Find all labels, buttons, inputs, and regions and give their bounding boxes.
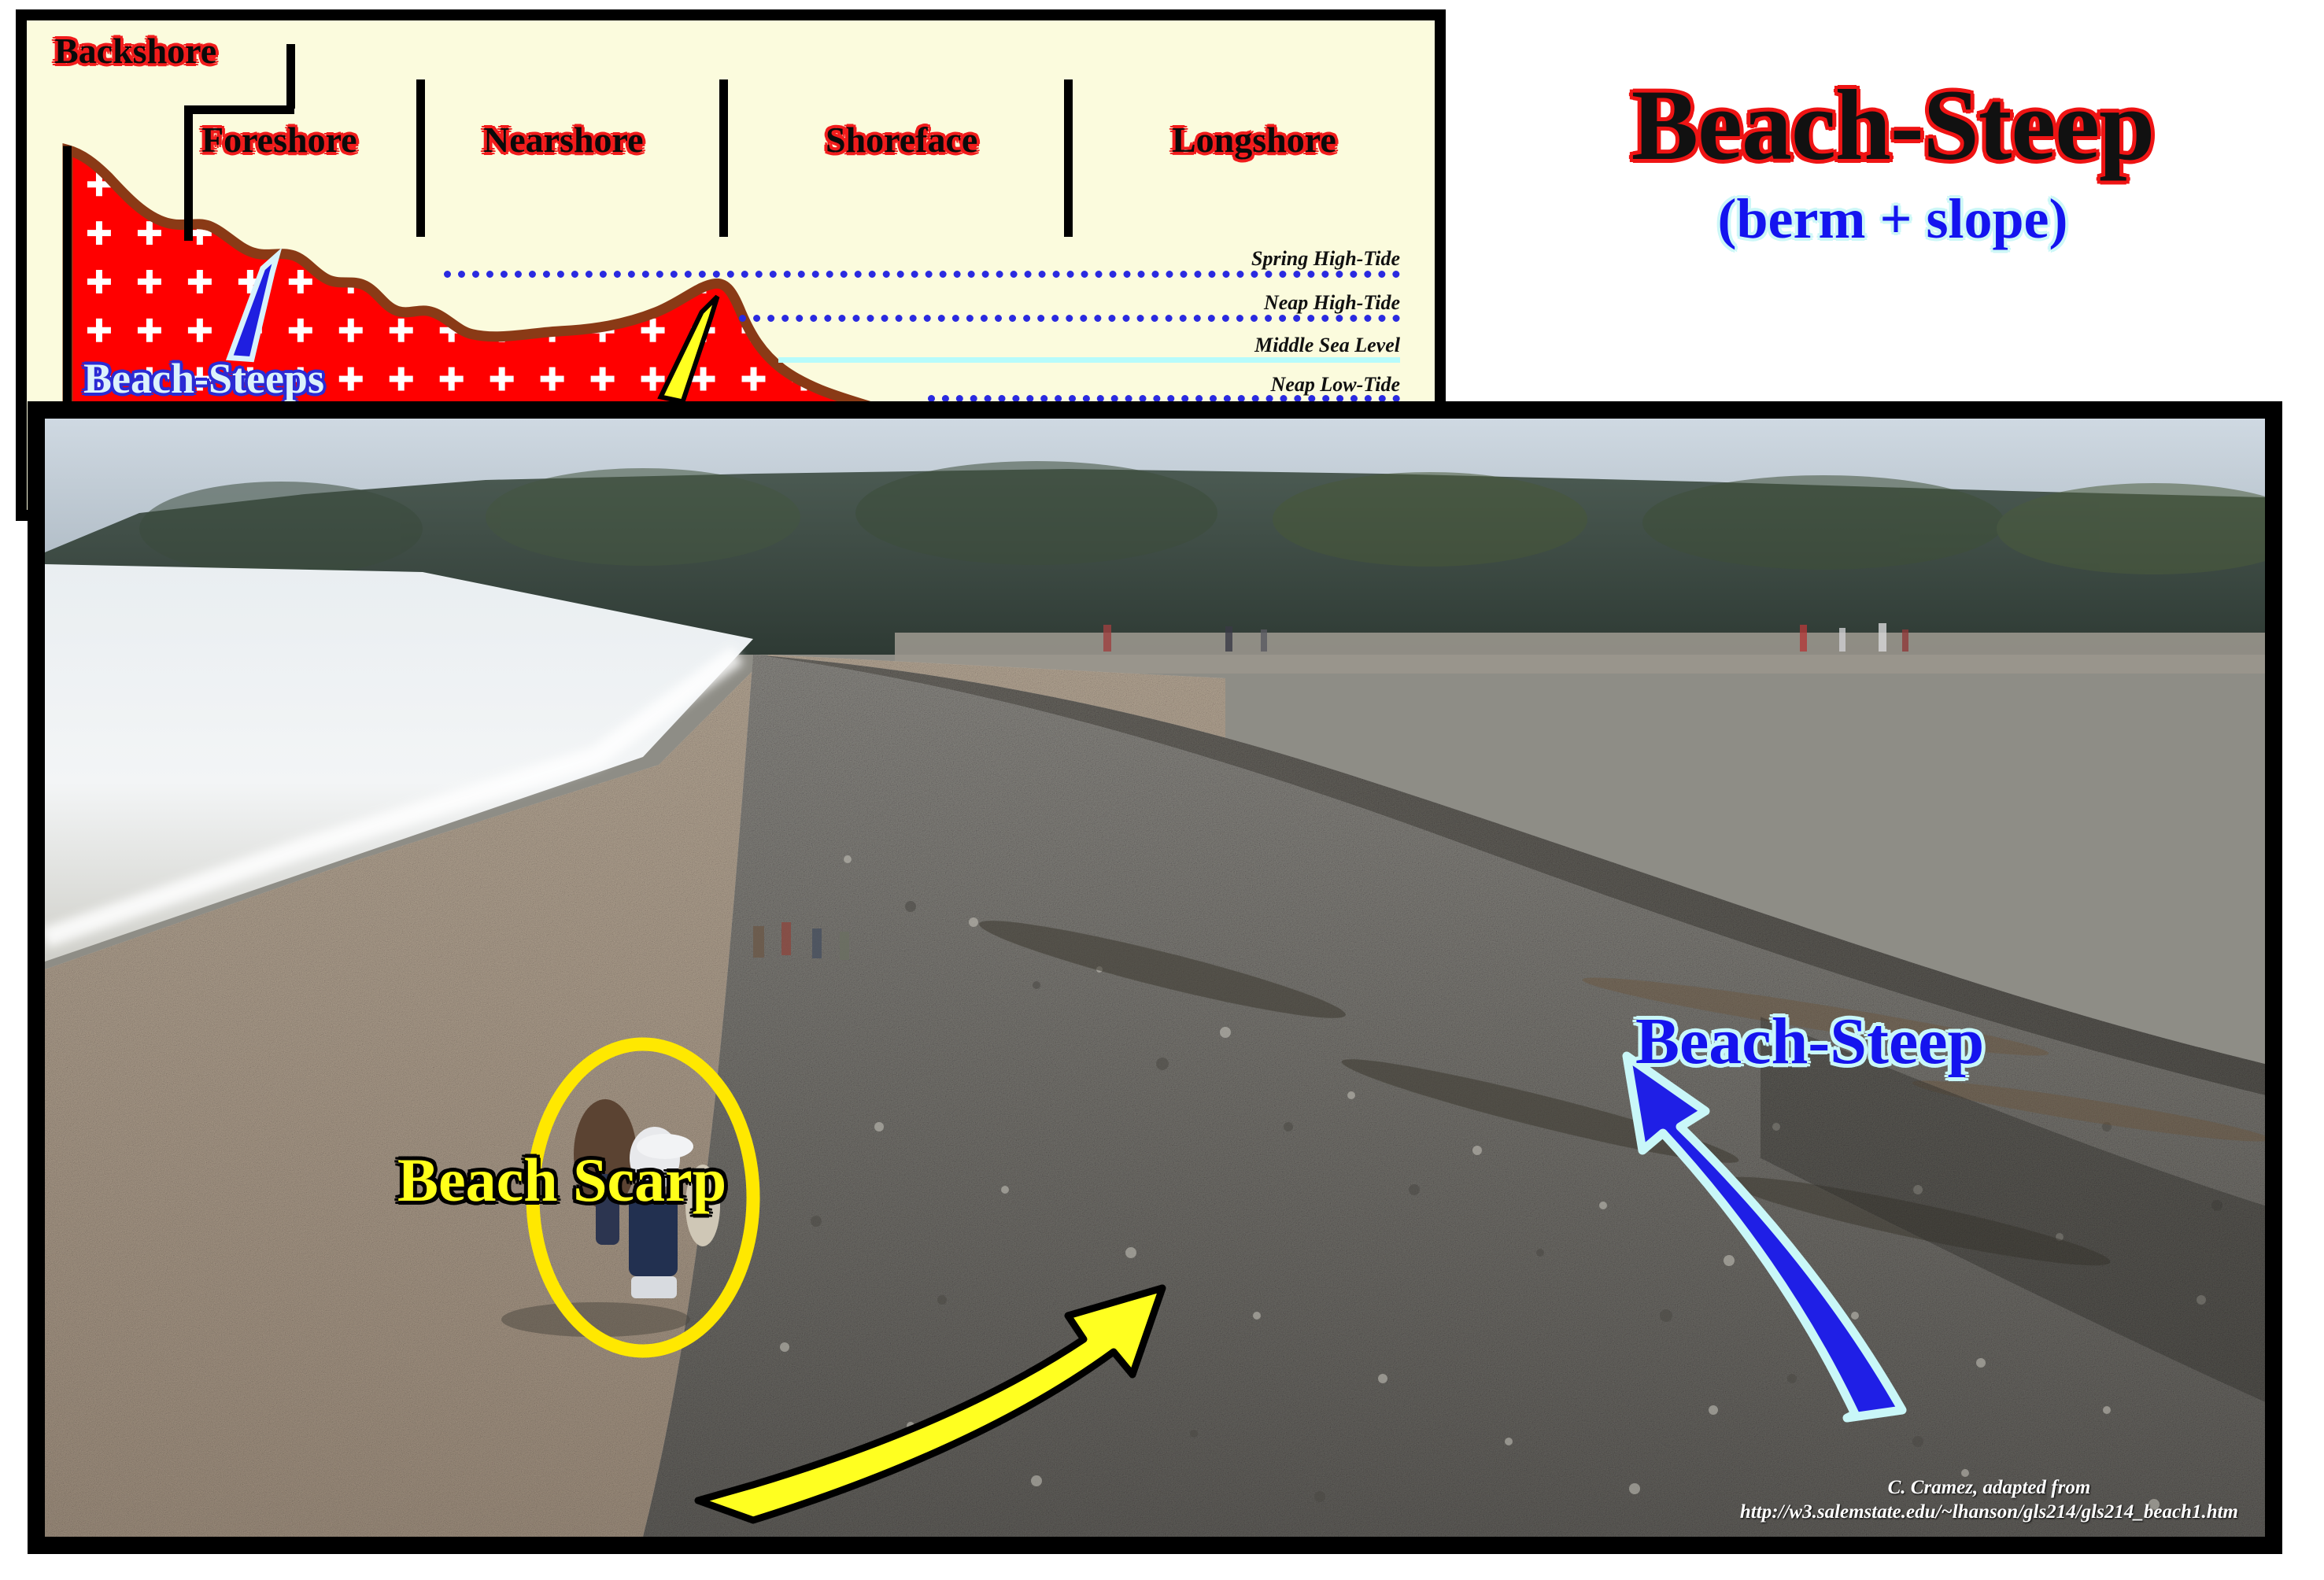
zone-label-foreshore: Foreshore [201,119,357,161]
photo-credit-line2: http://w3.salemstate.edu/~lhanson/gls214… [1740,1500,2238,1524]
beach-photograph-panel: C. Cramez, adapted from http://w3.salems… [28,401,2282,1554]
divider-shoreface-longshore [1064,79,1073,237]
divider-foreshore-nearshore [416,79,425,237]
tide-line-spring-high [444,271,1400,278]
zone-label-shoreface: Shoreface [826,119,977,161]
diagram-label-beach-steeps: Beach-Steeps [83,354,324,403]
tide-line-neap-high [739,315,1400,322]
photo-label-beach-scarp: Beach Scarp [397,1145,726,1216]
divider-nearshore-shoreface [719,79,728,237]
photo-credit: C. Cramez, adapted from http://w3.salems… [1740,1475,2238,1525]
photograph-canvas: C. Cramez, adapted from http://w3.salems… [45,419,2265,1537]
zone-label-longshore: Longshore [1172,119,1336,161]
divider-foreshore-left [184,105,193,241]
tide-label-neap-low: Neap Low-Tide [1192,373,1400,397]
page-subtitle: (berm + slope) [1480,186,2306,252]
title-block: Beach-Steep (berm + slope) [1480,75,2306,252]
tide-line-middle-sea-level [778,357,1400,363]
photo-credit-line1: C. Cramez, adapted from [1740,1475,2238,1500]
beach-photograph [45,419,2265,1537]
zone-label-backshore: Backshore [54,30,216,72]
divider-backshore-vertical [286,44,295,109]
zone-label-nearshore: Nearshore [483,119,644,161]
page-title: Beach-Steep [1480,75,2306,175]
tide-label-middle-sea-level: Middle Sea Level [1192,334,1400,357]
photo-label-beach-steep: Beach-Steep [1635,1003,1984,1080]
divider-backshore-horizontal [184,105,294,114]
tide-label-spring-high: Spring High-Tide [1192,247,1400,271]
tide-label-neap-high: Neap High-Tide [1192,291,1400,315]
